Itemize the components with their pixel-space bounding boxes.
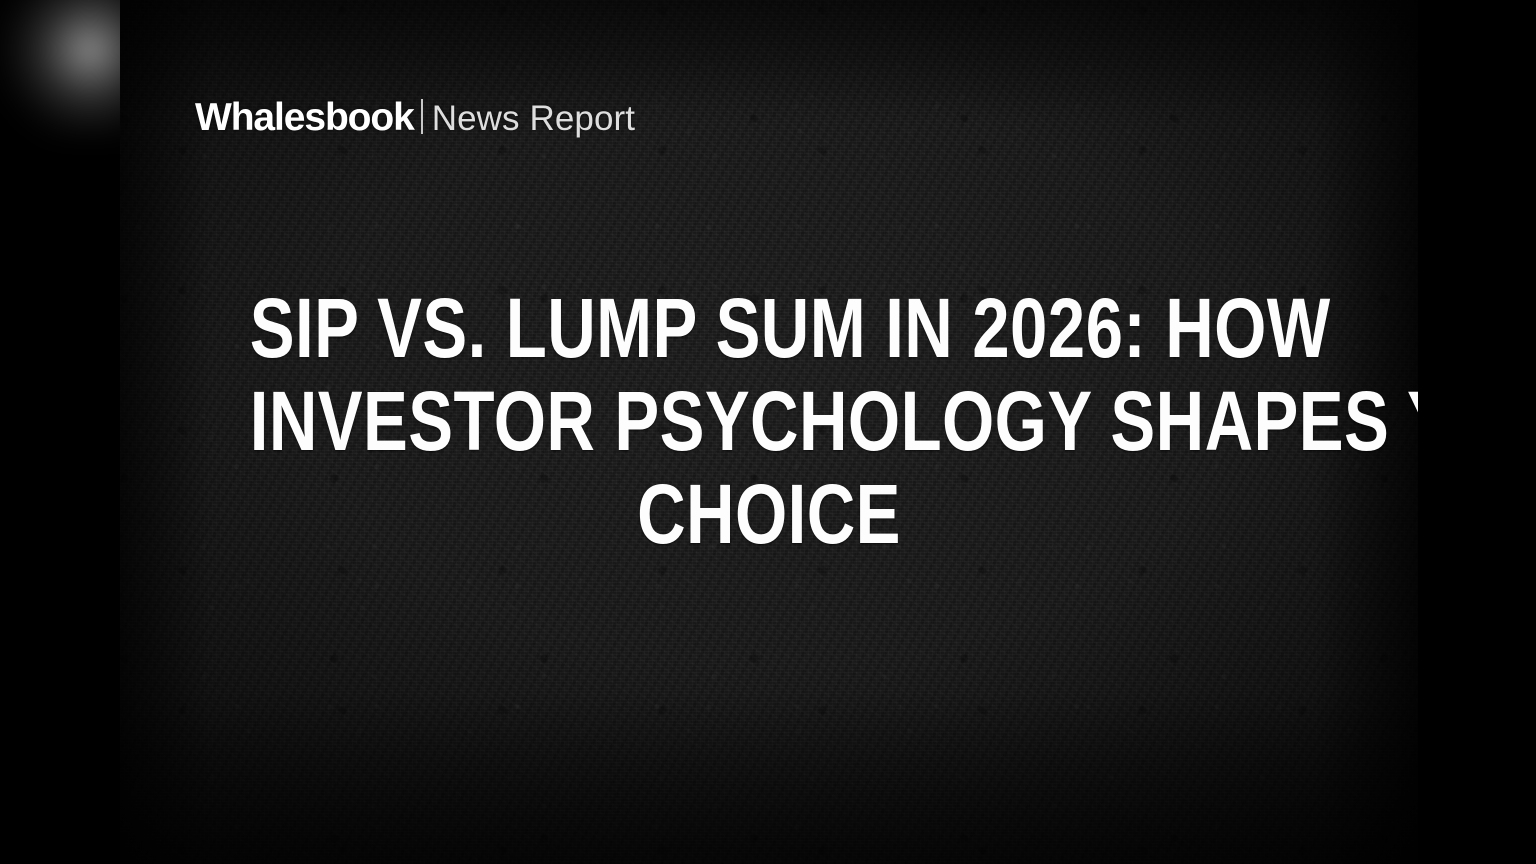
headline-line-3: CHOICE	[250, 468, 1288, 561]
brand-wordmark: Whalesbook	[195, 98, 414, 137]
left-letterbox-band	[0, 0, 120, 864]
logo-divider	[421, 99, 423, 134]
brand-kicker-label: News Report	[432, 101, 635, 136]
headline: SIP VS. LUMP SUM IN 2026: HOW INVESTOR P…	[120, 282, 1418, 561]
right-letterbox-band	[1418, 0, 1536, 864]
headline-line-1: SIP VS. LUMP SUM IN 2026: HOW	[250, 282, 1288, 375]
card-content: Whalesbook News Report SIP VS. LUMP SUM …	[0, 0, 1536, 864]
news-report-card: Whalesbook News Report SIP VS. LUMP SUM …	[0, 0, 1536, 864]
brand-logo: Whalesbook News Report	[195, 95, 635, 137]
corner-glow-decoration	[0, 0, 120, 142]
headline-line-2: INVESTOR PSYCHOLOGY SHAPES YOUR	[250, 375, 1288, 468]
